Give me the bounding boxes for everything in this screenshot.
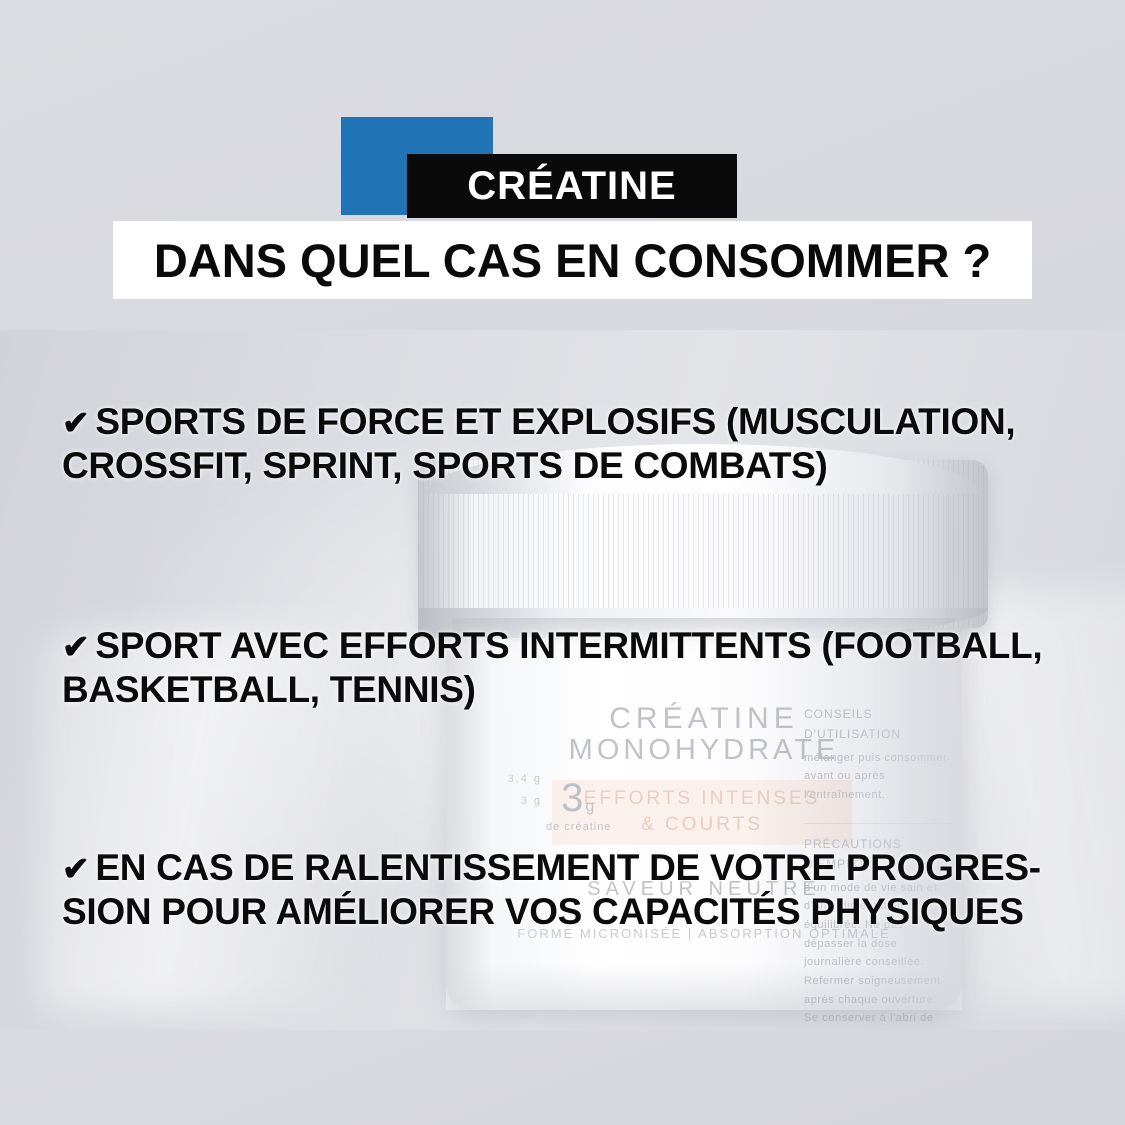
list-item: ✔SPORT AVEC EFFORTS INTERMITTENTS (FOOTB… xyxy=(62,624,1072,711)
list-item-text: SPORT AVEC EFFORTS INTERMITTENTS (FOOTBA… xyxy=(62,625,1042,710)
eyebrow-title-block: CRÉATINE xyxy=(407,154,737,218)
eyebrow-title: CRÉATINE xyxy=(467,166,676,206)
poster-canvas: 50 CRÉATINE MONOHYDRATE EFFORTS INTENSES… xyxy=(0,0,1125,1125)
list-item: ✔EN CAS DE RALENTISSEMENT DE VOTRE PROGR… xyxy=(62,846,1072,933)
list-item-text: SPORTS DE FORCE ET EXPLOSIFS (MUSCULATIO… xyxy=(62,401,1015,486)
subtitle-banner: DANS QUEL CAS EN CONSOMMER ? xyxy=(113,221,1032,299)
list-item: ✔SPORTS DE FORCE ET EXPLOSIFS (MUSCULATI… xyxy=(62,400,1072,487)
page-title: DANS QUEL CAS EN CONSOMMER ? xyxy=(154,237,991,284)
check-icon: ✔ xyxy=(62,628,89,665)
list-item-text: EN CAS DE RALENTISSEMENT DE VOTRE PROGRE… xyxy=(62,847,1041,932)
creatine-jar: 50 CRÉATINE MONOHYDRATE EFFORTS INTENSES… xyxy=(418,460,988,1020)
check-icon: ✔ xyxy=(62,404,89,441)
check-icon: ✔ xyxy=(62,850,89,887)
